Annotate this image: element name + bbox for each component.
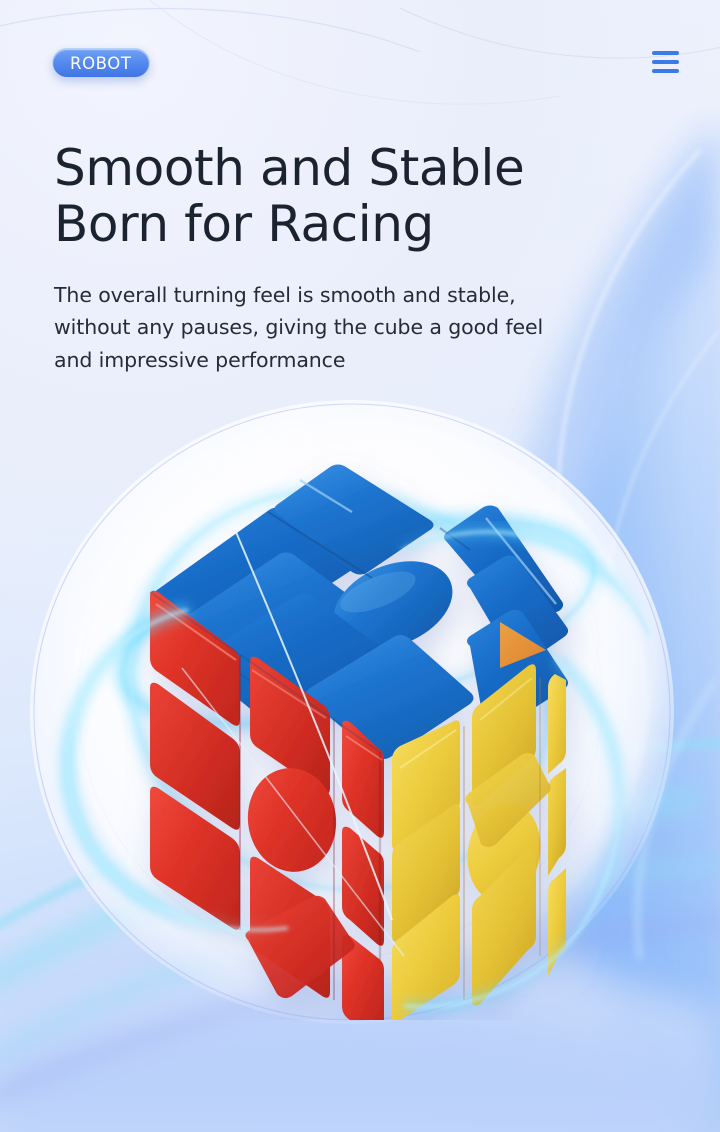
cube-body xyxy=(150,465,568,1021)
brand-badge-robot[interactable]: ROBOT xyxy=(52,48,150,78)
menu-bar-1 xyxy=(652,51,679,55)
menu-bar-3 xyxy=(652,69,679,73)
hamburger-menu-icon[interactable] xyxy=(652,47,686,77)
page-body-text: The overall turning feel is smooth and s… xyxy=(54,279,654,376)
marketing-copy: Smooth and Stable Born for Racing The ov… xyxy=(54,140,680,376)
page-header: ROBOT xyxy=(0,0,720,118)
product-stage xyxy=(0,400,720,1020)
page-headline: Smooth and Stable Born for Racing xyxy=(54,140,680,252)
speed-cube-illustration xyxy=(0,400,720,1020)
menu-bar-2 xyxy=(652,60,679,64)
product-feature-page: ROBOT Smooth and Stable Born for Racing … xyxy=(0,0,720,1132)
